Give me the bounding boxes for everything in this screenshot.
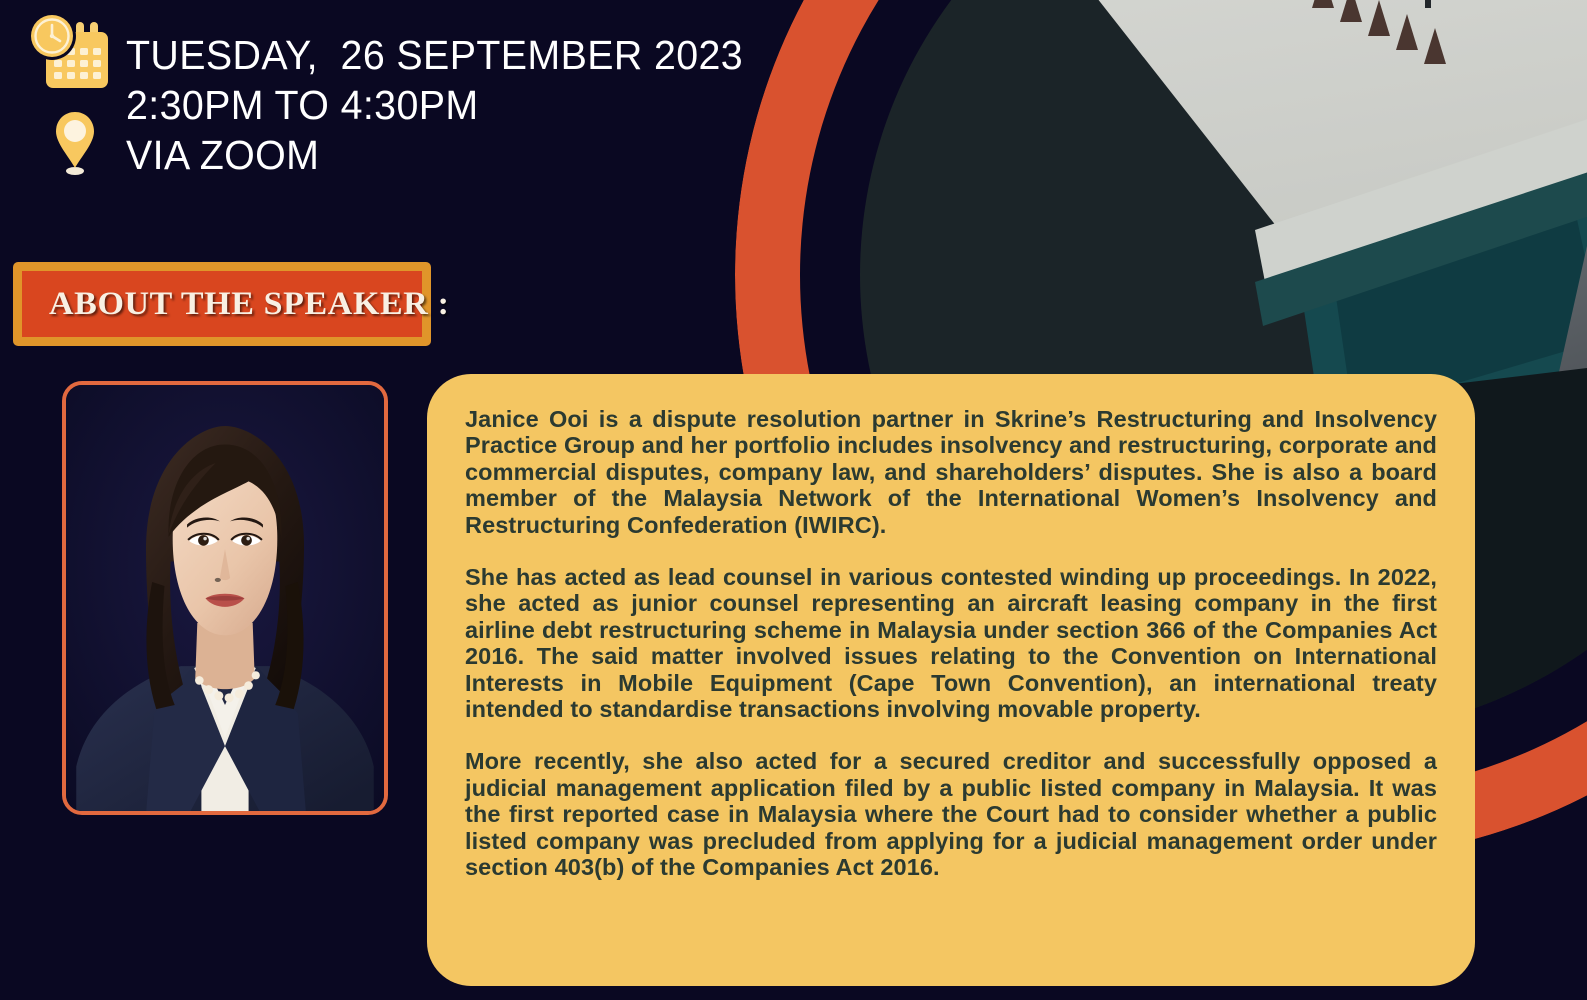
bio-paragraph-1: Janice Ooi is a dispute resolution partn… [465,406,1437,538]
about-banner-label: ABOUT THE SPEAKER : [49,286,450,323]
speaker-bio-card: Janice Ooi is a dispute resolution partn… [427,374,1475,986]
event-time-line: 2:30PM TO 4:30PM [126,80,743,130]
tree-row [1284,0,1446,64]
bio-paragraph-3: More recently, she also acted for a secu… [465,748,1437,880]
header-icon-column [18,10,126,180]
event-poster: TUESDAY, 26 SEPTEMBER 2023 2:30PM TO 4:3… [0,0,1587,1000]
calendar-clock-icon [24,10,114,96]
location-pin-icon [53,110,97,176]
speaker-portrait-photo [66,385,384,814]
about-the-speaker-banner: ABOUT THE SPEAKER : [13,262,431,346]
event-venue-line: VIA ZOOM [126,130,743,180]
event-date-line: TUESDAY, 26 SEPTEMBER 2023 [126,30,743,80]
bio-paragraph-2: She has acted as lead counsel in various… [465,564,1437,722]
about-banner-inner: ABOUT THE SPEAKER : [22,271,422,337]
speaker-photo-frame [62,381,388,815]
lamp-posts [1253,0,1587,8]
header-text-lines: TUESDAY, 26 SEPTEMBER 2023 2:30PM TO 4:3… [126,10,769,180]
event-details-header: TUESDAY, 26 SEPTEMBER 2023 2:30PM TO 4:3… [18,10,769,180]
